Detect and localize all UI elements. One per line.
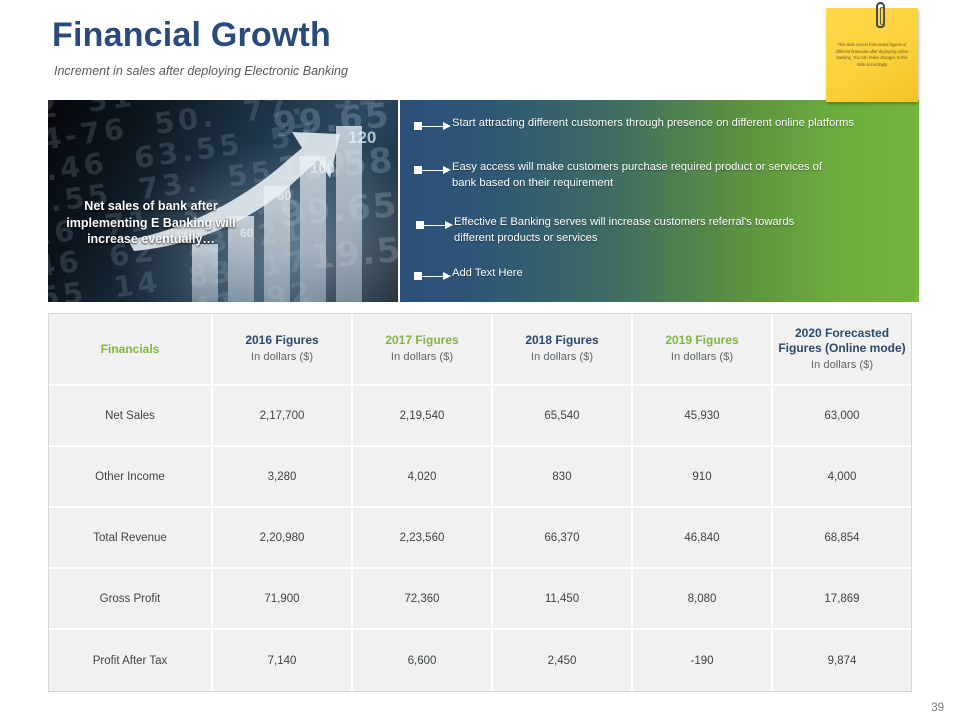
bullet-text: Easy access will make customers purchase…: [452, 160, 834, 192]
bullet-text: Add Text Here: [452, 266, 523, 282]
photo-axis-label-80: 80: [277, 188, 291, 203]
row-value: 3,280: [213, 447, 353, 508]
row-value: 2,17,700: [213, 386, 353, 447]
bullet-item-2: Easy access will make customers purchase…: [414, 160, 834, 192]
header-main: 2017 Figures: [385, 333, 458, 348]
photo-caption: Net sales of bank after implementing E B…: [56, 198, 246, 248]
bullet-text: Effective E Banking serves will increase…: [454, 215, 836, 247]
table-row: Profit After Tax 7,140 6,600 2,450 -190 …: [49, 630, 911, 691]
arrow-bullet-icon: [414, 119, 452, 133]
header-sub: In dollars ($): [391, 350, 453, 365]
table-header-2018: 2018 Figures In dollars ($): [493, 314, 633, 386]
financials-table: Financials 2016 Figures In dollars ($) 2…: [48, 313, 912, 692]
row-label: Gross Profit: [49, 569, 213, 630]
sticky-note[interactable]: This slide covers forecasted figures of …: [826, 8, 918, 102]
header-sub: In dollars ($): [811, 358, 873, 373]
row-value: 7,140: [213, 630, 353, 691]
table-row: Total Revenue 2,20,980 2,23,560 66,370 4…: [49, 508, 911, 569]
row-value: 830: [493, 447, 633, 508]
table-header-2020-forecasted: 2020 Forecasted Figures (Online mode) In…: [773, 314, 911, 386]
row-value: 46,840: [633, 508, 773, 569]
row-value: 45,930: [633, 386, 773, 447]
row-value: 71,900: [213, 569, 353, 630]
bullet-text: Start attracting different customers thr…: [452, 116, 854, 132]
arrow-bullet-icon: [414, 163, 452, 177]
row-label: Other Income: [49, 447, 213, 508]
row-value: 2,23,560: [353, 508, 493, 569]
table-row: Gross Profit 71,900 72,360 11,450 8,080 …: [49, 569, 911, 630]
page-number: 39: [931, 702, 944, 714]
row-value: 65,540: [493, 386, 633, 447]
row-label: Net Sales: [49, 386, 213, 447]
row-value: 72,360: [353, 569, 493, 630]
page-subtitle: Increment in sales after deploying Elect…: [54, 64, 348, 78]
bullet-item-4: Add Text Here: [414, 266, 714, 283]
row-value: 63,000: [773, 386, 911, 447]
header-main: 2019 Figures: [665, 333, 738, 348]
header-main: Financials: [101, 342, 160, 357]
sticky-note-text: This slide covers forecasted figures of …: [833, 42, 911, 69]
table-header-financials: Financials: [49, 314, 213, 386]
page-title: Financial Growth: [52, 16, 331, 55]
table-header-2019: 2019 Figures In dollars ($): [633, 314, 773, 386]
row-value: 2,20,980: [213, 508, 353, 569]
table-header-2016: 2016 Figures In dollars ($): [213, 314, 353, 386]
row-value: 8,080: [633, 569, 773, 630]
header-main: 2016 Figures: [245, 333, 318, 348]
row-value: 17,869: [773, 569, 911, 630]
header-sub: In dollars ($): [251, 350, 313, 365]
table-row: Net Sales 2,17,700 2,19,540 65,540 45,93…: [49, 386, 911, 447]
paperclip-icon: [876, 2, 885, 28]
photo-axis-label-120: 120: [348, 128, 376, 148]
row-label: Profit After Tax: [49, 630, 213, 691]
bullet-item-3: Effective E Banking serves will increase…: [416, 215, 836, 247]
table-header-2017: 2017 Figures In dollars ($): [353, 314, 493, 386]
header-main: 2018 Figures: [525, 333, 598, 348]
row-value: 68,854: [773, 508, 911, 569]
table-row: Other Income 3,280 4,020 830 910 4,000: [49, 447, 911, 508]
row-value: 910: [633, 447, 773, 508]
photo-axis-label-100: 100: [310, 160, 335, 177]
financial-growth-photo: 22 31 41 62 62 34-76 50. 77. 51 9.46 63.…: [48, 100, 398, 302]
panel-edge-accent: [916, 100, 919, 302]
benefits-panel: Start attracting different customers thr…: [400, 100, 918, 302]
row-label: Total Revenue: [49, 508, 213, 569]
row-value: 2,450: [493, 630, 633, 691]
header-sub: In dollars ($): [671, 350, 733, 365]
row-value: 4,020: [353, 447, 493, 508]
row-value: 2,19,540: [353, 386, 493, 447]
header-sub: In dollars ($): [531, 350, 593, 365]
slide-canvas: Financial Growth Increment in sales afte…: [0, 0, 960, 720]
arrow-bullet-icon: [414, 269, 452, 283]
row-value: -190: [633, 630, 773, 691]
row-value: 11,450: [493, 569, 633, 630]
header-main: 2020 Forecasted Figures (Online mode): [773, 326, 911, 356]
row-value: 66,370: [493, 508, 633, 569]
table-header-row: Financials 2016 Figures In dollars ($) 2…: [49, 314, 911, 386]
bullet-item-1: Start attracting different customers thr…: [414, 116, 904, 133]
row-value: 4,000: [773, 447, 911, 508]
arrow-bullet-icon: [416, 218, 454, 232]
row-value: 9,874: [773, 630, 911, 691]
photo-bar: [192, 244, 218, 302]
row-value: 6,600: [353, 630, 493, 691]
